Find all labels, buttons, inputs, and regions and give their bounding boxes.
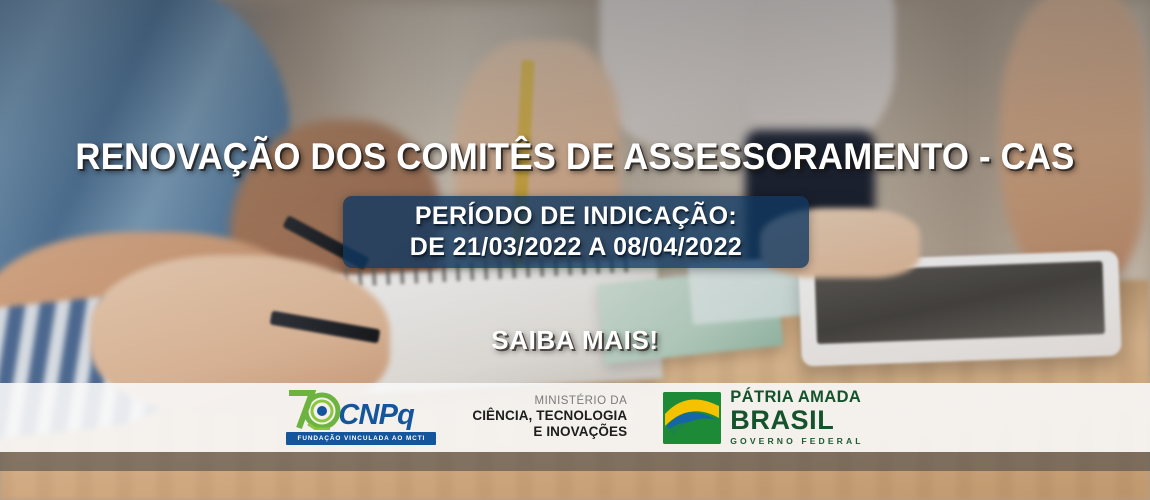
ministry-line-1: MINISTÉRIO DA — [472, 395, 627, 409]
banner-headline: RENOVAÇÃO DOS COMITÊS DE ASSESSORAMENTO … — [35, 136, 1116, 178]
brasil-line-3: GOVERNO FEDERAL — [730, 437, 863, 446]
cnpq-tagline-bar: FUNDAÇÃO VINCULADA AO MCTI — [286, 432, 436, 445]
brasil-line-2: BRASIL — [730, 407, 863, 434]
ministry-logo[interactable]: MINISTÉRIO DA CIÊNCIA, TECNOLOGIA E INOV… — [472, 395, 627, 440]
campaign-banner: RENOVAÇÃO DOS COMITÊS DE ASSESSORAMENTO … — [0, 0, 1150, 500]
cnpq-wordmark: CNPq — [338, 400, 414, 430]
period-label: PERÍODO DE INDICAÇÃO: — [415, 201, 737, 232]
period-dates: DE 21/03/2022 A 08/04/2022 — [410, 232, 742, 263]
period-panel: PERÍODO DE INDICAÇÃO: DE 21/03/2022 A 08… — [343, 196, 809, 268]
ministry-line-2: CIÊNCIA, TECNOLOGIA — [472, 408, 627, 424]
brasil-government-logo[interactable]: PÁTRIA AMADA BRASIL GOVERNO FEDERAL — [663, 389, 863, 445]
saiba-mais-link[interactable]: SAIBA MAIS! — [0, 325, 1150, 356]
brasil-line-1: PÁTRIA AMADA — [730, 389, 863, 406]
footer-logo-row: CNPq FUNDAÇÃO VINCULADA AO MCTI MINISTÉR… — [0, 383, 1150, 452]
ministry-line-3: E INOVAÇÕES — [472, 424, 627, 440]
brasil-flag-icon — [663, 392, 721, 444]
cnpq-logo[interactable]: CNPq FUNDAÇÃO VINCULADA AO MCTI — [286, 388, 436, 448]
cnpq-tagline: FUNDAÇÃO VINCULADA AO MCTI — [298, 435, 426, 442]
cnpq-70-anniversary-icon — [286, 388, 342, 430]
footer-gray-band — [0, 452, 1150, 471]
